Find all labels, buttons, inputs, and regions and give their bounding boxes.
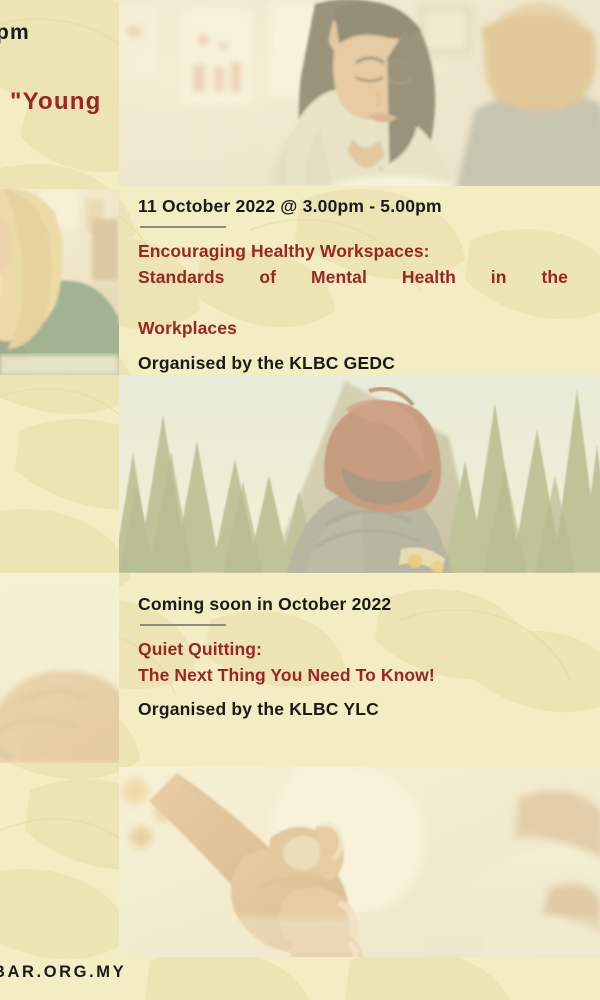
- poster-canvas: pm "Young: [0, 0, 600, 1000]
- event-1-panel: 11 October 2022 @ 3.00pm - 5.00pm Encour…: [138, 196, 568, 374]
- photo-overlay-wash: [0, 189, 119, 375]
- event-1-title-line-3: Workplaces: [138, 316, 568, 342]
- event-2-panel: Coming soon in October 2022 Quiet Quitti…: [138, 594, 568, 720]
- stressed-woman-consultation-photo: [119, 0, 600, 186]
- cropped-title-fragment: "Young: [10, 88, 101, 116]
- footer-website-url[interactable]: BAR.ORG.MY: [0, 963, 126, 982]
- event-2-organiser: Organised by the KLBC YLC: [138, 699, 568, 720]
- event-1-title-line-2: Standards of Mental Health in the: [138, 265, 568, 316]
- photo-overlay-wash: [0, 573, 119, 763]
- event-2-title-line-1: Quiet Quitting:: [138, 637, 568, 663]
- event-2-divider: [140, 624, 226, 626]
- hiker-red-beanie-forest-photo: [119, 375, 600, 573]
- cropped-time-fragment: pm: [0, 21, 30, 45]
- photo-overlay-wash: [119, 375, 600, 573]
- event-1-date: 11 October 2022 @ 3.00pm - 5.00pm: [138, 196, 568, 217]
- event-1-divider: [140, 226, 226, 228]
- hand-closeup-photo: [0, 573, 119, 763]
- event-2-date: Coming soon in October 2022: [138, 594, 568, 615]
- event-2-title: Quiet Quitting: The Next Thing You Need …: [138, 637, 568, 688]
- event-1-title: Encouraging Healthy Workspaces: Standard…: [138, 239, 568, 342]
- blonde-woman-green-sweater-photo: [0, 189, 119, 375]
- event-1-organiser: Organised by the KLBC GEDC: [138, 353, 568, 374]
- photo-overlay-wash: [119, 0, 600, 186]
- event-2-title-line-2: The Next Thing You Need To Know!: [138, 663, 568, 689]
- meditation-hand-mudra-photo: [119, 767, 600, 957]
- photo-overlay-wash: [119, 767, 600, 957]
- event-1-title-line-1: Encouraging Healthy Workspaces:: [138, 239, 568, 265]
